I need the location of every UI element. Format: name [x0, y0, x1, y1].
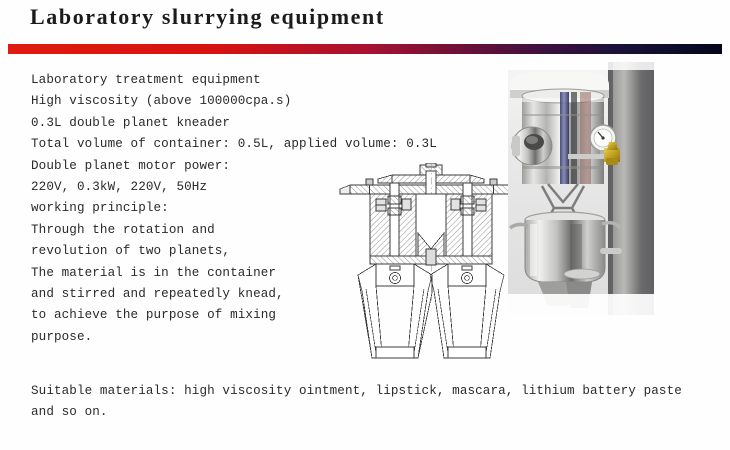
spec-line: working principle:	[31, 198, 331, 219]
slide-canvas: Laboratory slurrying equipment Laborator…	[0, 0, 730, 450]
spec-line: to achieve the purpose of mixing	[31, 305, 331, 326]
suitable-materials-note: Suitable materials: high viscosity ointm…	[31, 381, 691, 423]
page-title: Laboratory slurrying equipment	[30, 4, 385, 30]
spec-line: Through the rotation and	[31, 220, 331, 241]
spec-line: Total volume of container: 0.5L, applied…	[31, 134, 331, 155]
spec-line: purpose.	[31, 327, 331, 348]
spec-line: Double planet motor power:	[31, 156, 331, 177]
spec-line: Laboratory treatment equipment	[31, 70, 331, 91]
cross-section-drawing	[338, 163, 528, 363]
gradient-divider	[8, 44, 722, 54]
note-line: and so on.	[31, 402, 691, 423]
spec-line: The material is in the container	[31, 263, 331, 284]
spec-line: 220V, 0.3kW, 220V, 50Hz	[31, 177, 331, 198]
note-line: Suitable materials: high viscosity ointm…	[31, 381, 691, 402]
equipment-photo	[508, 62, 654, 315]
spec-line: High viscosity (above 100000cpa.s)	[31, 91, 331, 112]
specification-text-block: Laboratory treatment equipment High visc…	[31, 70, 331, 348]
spec-line: 0.3L double planet kneader	[31, 113, 331, 134]
spec-line: and stirred and repeatedly knead,	[31, 284, 331, 305]
spec-line: revolution of two planets,	[31, 241, 331, 262]
